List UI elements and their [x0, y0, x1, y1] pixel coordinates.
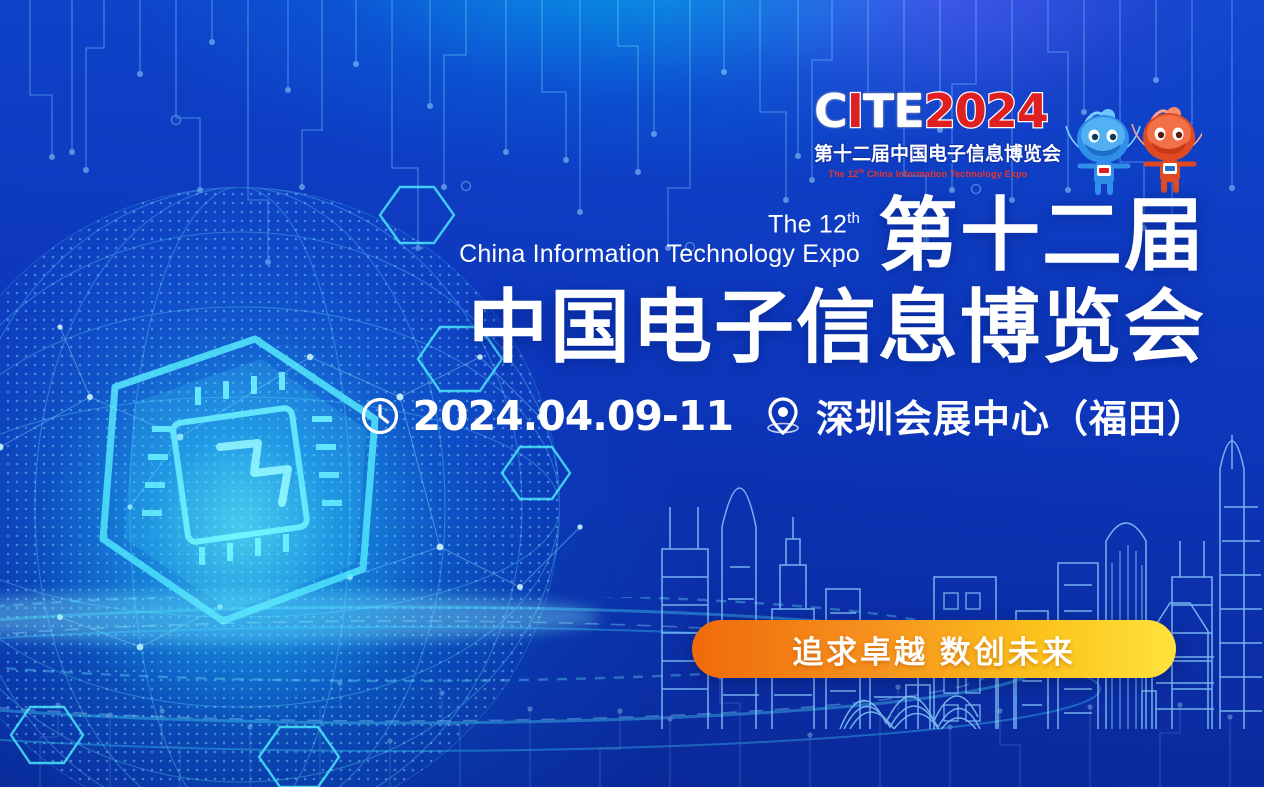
- mascot-blue: [1066, 109, 1140, 192]
- event-venue: 深圳会展中心（福田）: [816, 388, 1206, 443]
- headline-english-line1: The 12th: [340, 210, 860, 240]
- headline-chinese-line2: 中国电子信息博览会: [468, 288, 1206, 368]
- slogan-text: 追求卓越 数创未来: [792, 627, 1076, 672]
- headline-english-line2: China Information Technology Expo: [459, 240, 860, 268]
- headline-chinese-line1: 第十二届: [878, 196, 1206, 276]
- headline-english: The 12th China Information Technology Ex…: [340, 210, 860, 269]
- event-date: 2024.04.09-11: [413, 392, 733, 440]
- mascot-pair: [1056, 92, 1202, 196]
- cite-logo-letter-i: I: [847, 84, 863, 138]
- clock-icon: [360, 396, 400, 436]
- cite-logo: CITE2024 第十二届中国电子信息博览会 The 12th China In…: [814, 88, 1042, 179]
- cite-logo-wordmark: CITE2024: [814, 88, 1042, 134]
- expo-banner: CITE2024 第十二届中国电子信息博览会 The 12th China In…: [0, 0, 1264, 787]
- cite-logo-letters: C: [814, 84, 847, 138]
- event-meta-row: 2024.04.09-11 深圳会展中心（福田）: [360, 388, 1206, 443]
- cite-logo-letters-te: TE: [863, 84, 924, 138]
- cite-logo-english-rest: China Information Technology Expo: [864, 169, 1027, 179]
- cite-logo-year: 2024: [924, 84, 1048, 138]
- event-date-item: 2024.04.09-11: [360, 392, 733, 440]
- cite-logo-chinese: 第十二届中国电子信息博览会: [814, 139, 1042, 166]
- slogan-pill: 追求卓越 数创未来: [692, 620, 1176, 678]
- shenzhen-skyline-graphic: [644, 399, 1264, 729]
- mascot-red: [1132, 107, 1202, 190]
- cite-logo-english: The 12th China Information Technology Ex…: [814, 169, 1042, 179]
- cite-logo-english-prefix: The 12: [829, 169, 859, 179]
- location-pin-icon: [763, 395, 803, 437]
- event-venue-item: 深圳会展中心（福田）: [763, 388, 1206, 443]
